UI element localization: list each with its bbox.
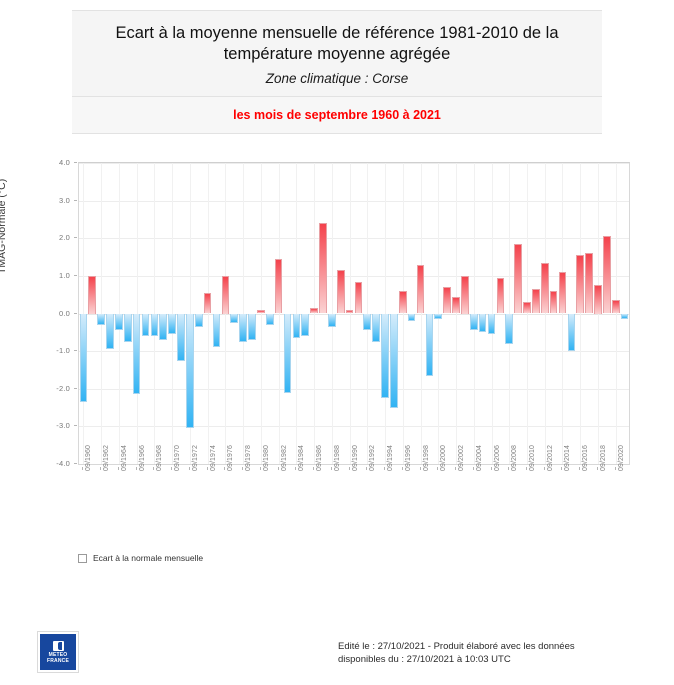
x-axis-tick-mark: [136, 467, 137, 470]
x-axis-tick-label: 09/2004: [476, 445, 483, 471]
bar[interactable]: [390, 314, 398, 408]
bar[interactable]: [159, 314, 167, 340]
bar[interactable]: [124, 314, 132, 342]
y-axis-tick-mark: [74, 350, 77, 351]
bar[interactable]: [337, 270, 345, 313]
bar[interactable]: [363, 314, 371, 331]
gridline-vertical: [456, 163, 457, 464]
bar[interactable]: [514, 244, 522, 314]
meteo-france-logo-icon: METEO FRANCE: [38, 632, 78, 672]
bar[interactable]: [106, 314, 114, 350]
y-axis-tick-label: 3.0: [12, 196, 70, 205]
x-axis-tick-mark: [349, 467, 350, 470]
x-axis-tick-mark: [295, 467, 296, 470]
bar[interactable]: [230, 314, 238, 323]
y-axis-tick-label: 1.0: [12, 271, 70, 280]
y-axis-tick-label: 0.0: [12, 309, 70, 318]
x-axis-tick-mark: [473, 467, 474, 470]
page-title-line2: température moyenne agrégée: [224, 45, 451, 63]
x-axis-tick-label: 09/1986: [316, 445, 323, 471]
bar[interactable]: [470, 314, 478, 331]
bar[interactable]: [257, 310, 265, 314]
bar[interactable]: [381, 314, 389, 399]
y-axis-tick-label: 4.0: [12, 158, 70, 167]
page-subtitle: Zone climatique : Corse: [82, 71, 592, 86]
x-axis-tick-mark: [100, 467, 101, 470]
gridline-vertical: [350, 163, 351, 464]
bar[interactable]: [328, 314, 336, 327]
x-axis-tick-label: 09/1970: [174, 445, 181, 471]
plot-area: [78, 162, 630, 465]
y-axis-tick-mark: [74, 237, 77, 238]
edition-info: Edité le : 27/10/2021 - Produit élaboré …: [338, 640, 575, 666]
y-axis-tick-mark: [74, 200, 77, 201]
bar[interactable]: [550, 291, 558, 314]
x-axis-tick-label: 09/2012: [547, 445, 554, 471]
gridline-vertical: [598, 163, 599, 464]
bar[interactable]: [346, 310, 354, 314]
edition-info-line2: disponibles du : 27/10/2021 à 10:03 UTC: [338, 654, 511, 665]
gridline-vertical: [545, 163, 546, 464]
x-axis-tick-mark: [455, 467, 456, 470]
bar[interactable]: [204, 293, 212, 314]
bar[interactable]: [523, 302, 531, 313]
bar[interactable]: [239, 314, 247, 342]
gridline-horizontal: [79, 426, 629, 427]
bar[interactable]: [222, 276, 230, 314]
bar[interactable]: [479, 314, 487, 333]
x-axis-tick-mark: [278, 467, 279, 470]
bar[interactable]: [275, 259, 283, 314]
logo-text: METEO FRANCE: [47, 652, 69, 664]
bar[interactable]: [594, 285, 602, 313]
x-axis-tick-label: 09/1960: [85, 445, 92, 471]
bar[interactable]: [612, 300, 620, 313]
x-axis-tick-mark: [82, 467, 83, 470]
x-axis-tick-mark: [508, 467, 509, 470]
x-axis-tick-mark: [207, 467, 208, 470]
x-axis-tick-label: 09/2014: [564, 445, 571, 471]
y-axis-tick-mark: [74, 425, 77, 426]
gridline-horizontal: [79, 163, 629, 164]
gridline-vertical: [527, 163, 528, 464]
bar[interactable]: [80, 314, 88, 402]
bar[interactable]: [532, 289, 540, 313]
x-axis-tick-mark: [118, 467, 119, 470]
bar[interactable]: [443, 287, 451, 313]
gridline-horizontal: [79, 201, 629, 202]
bar[interactable]: [88, 276, 96, 314]
bar[interactable]: [355, 282, 363, 314]
gridline-horizontal: [79, 389, 629, 390]
x-axis-tick-mark: [420, 467, 421, 470]
edition-info-line1: Edité le : 27/10/2021 - Produit élaboré …: [338, 641, 575, 652]
x-axis-tick-label: 09/2016: [582, 445, 589, 471]
x-axis-tick-label: 09/2000: [440, 445, 447, 471]
bar[interactable]: [284, 314, 292, 393]
y-axis-tick-mark: [74, 388, 77, 389]
gridline-vertical: [225, 163, 226, 464]
bar[interactable]: [310, 308, 318, 314]
bar[interactable]: [541, 263, 549, 314]
bar[interactable]: [434, 314, 442, 320]
footer: METEO FRANCE Edité le : 27/10/2021 - Pro…: [0, 628, 674, 685]
x-axis-tick-label: 09/1984: [298, 445, 305, 471]
y-axis-tick-label: -4.0: [12, 459, 70, 468]
period-label: les mois de septembre 1960 à 2021: [233, 108, 441, 122]
x-axis-tick-mark: [331, 467, 332, 470]
y-axis-tick-mark: [74, 313, 77, 314]
gridline-vertical: [314, 163, 315, 464]
x-axis-tick-mark: [597, 467, 598, 470]
x-axis-tick-label: 09/1964: [121, 445, 128, 471]
legend-checkbox-icon[interactable]: [78, 554, 87, 563]
x-axis-tick-mark: [561, 467, 562, 470]
x-axis-tick-label: 09/1978: [245, 445, 252, 471]
gridline-horizontal: [79, 351, 629, 352]
chart-container: TMAG-Normale (°C) 4.03.02.01.00.0-1.0-2.…: [0, 156, 674, 516]
bar[interactable]: [568, 314, 576, 352]
x-axis-tick-mark: [402, 467, 403, 470]
bar[interactable]: [621, 314, 629, 320]
bar[interactable]: [559, 272, 567, 313]
bar[interactable]: [168, 314, 176, 335]
x-axis-tick-label: 09/1982: [281, 445, 288, 471]
header-banner: Ecart à la moyenne mensuelle de référenc…: [72, 10, 602, 97]
bar[interactable]: [585, 253, 593, 313]
bar[interactable]: [177, 314, 185, 361]
bar[interactable]: [301, 314, 309, 337]
bar[interactable]: [426, 314, 434, 376]
x-axis-tick-mark: [224, 467, 225, 470]
gridline-vertical: [261, 163, 262, 464]
x-axis-tick-label: 09/2018: [600, 445, 607, 471]
y-axis-tick-mark: [74, 463, 77, 464]
bar[interactable]: [399, 291, 407, 314]
x-axis-tick-label: 09/1974: [210, 445, 217, 471]
x-axis-tick-label: 09/1988: [334, 445, 341, 471]
bar[interactable]: [248, 314, 256, 340]
page-title-line1: Ecart à la moyenne mensuelle de référenc…: [115, 24, 558, 42]
x-axis-tick-mark: [491, 467, 492, 470]
x-axis-tick-mark: [437, 467, 438, 470]
legend-label: Ecart à la normale mensuelle: [93, 553, 203, 563]
bar[interactable]: [576, 255, 584, 313]
bar[interactable]: [266, 314, 274, 325]
x-axis-ticks: 09/196009/196209/196409/196609/196809/19…: [78, 467, 630, 513]
x-axis-tick-label: 09/2002: [458, 445, 465, 471]
logo-mark-icon: [53, 641, 64, 651]
x-axis-tick-mark: [544, 467, 545, 470]
bar[interactable]: [115, 314, 123, 331]
bar[interactable]: [408, 314, 416, 322]
bar[interactable]: [461, 276, 469, 314]
bar[interactable]: [497, 278, 505, 314]
x-axis-tick-label: 09/1996: [405, 445, 412, 471]
x-axis-tick-mark: [242, 467, 243, 470]
x-axis-tick-mark: [313, 467, 314, 470]
x-axis-tick-label: 09/1966: [139, 445, 146, 471]
x-axis-tick-label: 09/1972: [192, 445, 199, 471]
x-axis-tick-label: 09/2006: [494, 445, 501, 471]
gridline-vertical: [279, 163, 280, 464]
bar[interactable]: [133, 314, 141, 395]
y-axis-tick-mark: [74, 162, 77, 163]
gridline-vertical: [208, 163, 209, 464]
x-axis-tick-label: 09/1994: [387, 445, 394, 471]
bar[interactable]: [505, 314, 513, 344]
period-banner: les mois de septembre 1960 à 2021: [72, 97, 602, 134]
gridline-vertical: [421, 163, 422, 464]
page-title: Ecart à la moyenne mensuelle de référenc…: [82, 23, 592, 65]
gridline-vertical: [562, 163, 563, 464]
y-axis-title: TMAG-Normale (°C): [0, 179, 8, 274]
x-axis-tick-label: 09/2010: [529, 445, 536, 471]
y-axis-tick-label: -3.0: [12, 421, 70, 430]
bar[interactable]: [417, 265, 425, 314]
y-axis-tick-mark: [74, 275, 77, 276]
x-axis-tick-label: 09/1992: [369, 445, 376, 471]
logo-text-line2: FRANCE: [47, 658, 69, 664]
x-axis-tick-label: 09/1980: [263, 445, 270, 471]
bar[interactable]: [151, 314, 159, 337]
y-axis-tick-label: 2.0: [12, 233, 70, 242]
bar[interactable]: [293, 314, 301, 338]
x-axis-tick-label: 09/1976: [227, 445, 234, 471]
x-axis-tick-mark: [260, 467, 261, 470]
x-axis-tick-mark: [526, 467, 527, 470]
gridline-horizontal: [79, 238, 629, 239]
x-axis-tick-mark: [615, 467, 616, 470]
gridline-vertical: [403, 163, 404, 464]
bar[interactable]: [488, 314, 496, 335]
gridline-vertical: [580, 163, 581, 464]
x-axis-tick-mark: [153, 467, 154, 470]
bar[interactable]: [372, 314, 380, 342]
gridline-vertical: [616, 163, 617, 464]
x-axis-tick-label: 09/1998: [423, 445, 430, 471]
chart-legend[interactable]: Ecart à la normale mensuelle: [78, 553, 203, 563]
bar[interactable]: [195, 314, 203, 327]
x-axis-tick-label: 09/2020: [618, 445, 625, 471]
x-axis-tick-label: 09/1990: [352, 445, 359, 471]
x-axis-tick-mark: [171, 467, 172, 470]
bar[interactable]: [213, 314, 221, 348]
x-axis-tick-mark: [579, 467, 580, 470]
x-axis-tick-label: 09/2008: [511, 445, 518, 471]
x-axis-tick-mark: [366, 467, 367, 470]
x-axis-tick-label: 09/1962: [103, 445, 110, 471]
x-axis-tick-mark: [384, 467, 385, 470]
bar[interactable]: [142, 314, 150, 337]
bar[interactable]: [452, 297, 460, 314]
bar[interactable]: [603, 236, 611, 313]
y-axis-tick-label: -1.0: [12, 346, 70, 355]
x-axis-tick-mark: [189, 467, 190, 470]
x-axis-tick-label: 09/1968: [156, 445, 163, 471]
bar[interactable]: [319, 223, 327, 313]
y-axis-tick-label: -2.0: [12, 384, 70, 393]
bar[interactable]: [97, 314, 105, 325]
bar[interactable]: [186, 314, 194, 429]
